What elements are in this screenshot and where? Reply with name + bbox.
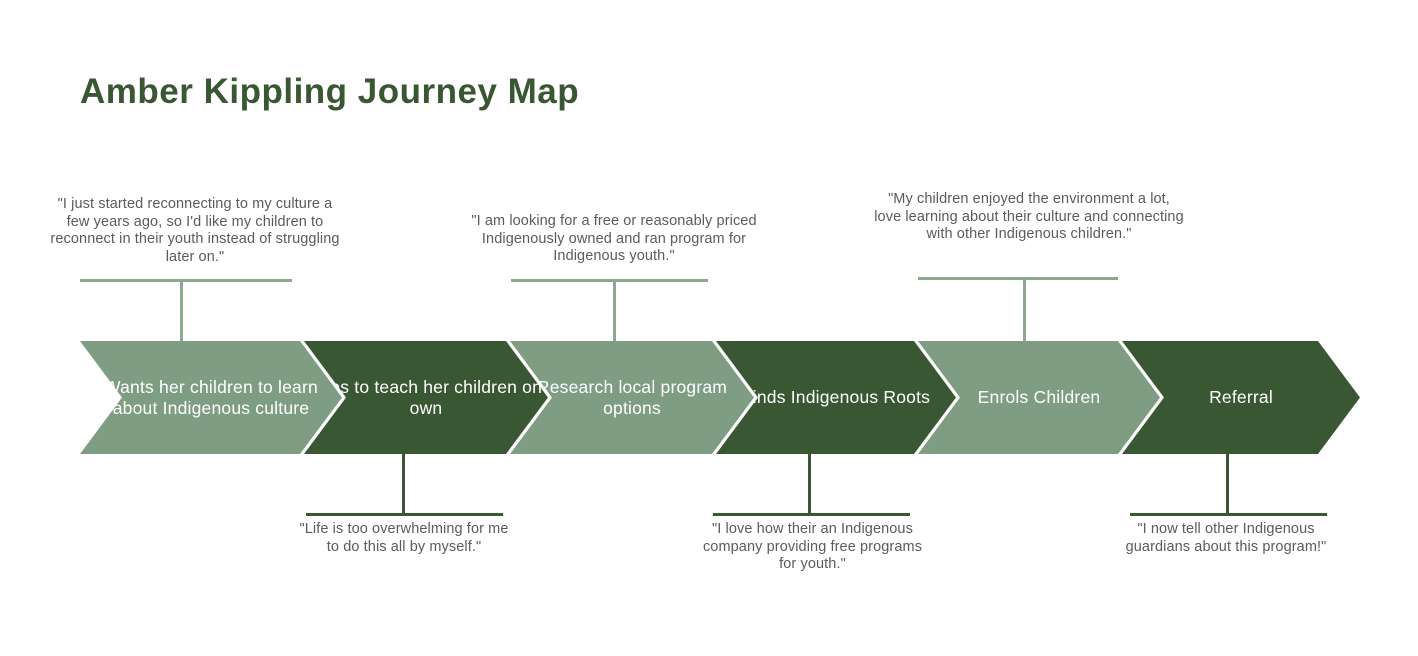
quote-above-2: "I am looking for a free or reasonably p… [455, 213, 773, 266]
quote-below-3: "I now tell other Indigenous guardians a… [1116, 521, 1336, 556]
quote-below-1: "Life is too overwhelming for me to do t… [294, 521, 514, 556]
quote-above-1: "I just started reconnecting to my cultu… [45, 196, 345, 266]
quote-above-3: "My children enjoyed the environment a l… [874, 191, 1184, 244]
journey-stage-1[interactable]: Wants her children to learn about Indige… [80, 341, 342, 454]
journey-stage-4-label: Finds Indigenous Roots [736, 387, 936, 408]
journey-stage-6-label: Referral [1203, 387, 1279, 408]
page-title: Amber Kippling Journey Map [80, 72, 579, 112]
journey-stage-5-label: Enrols Children [972, 387, 1107, 408]
quote-below-2: "I love how their an Indigenous company … [700, 521, 925, 574]
journey-stage-band: Wants her children to learn about Indige… [80, 341, 1360, 454]
journey-stage-1-label: Wants her children to learn about Indige… [80, 377, 342, 419]
